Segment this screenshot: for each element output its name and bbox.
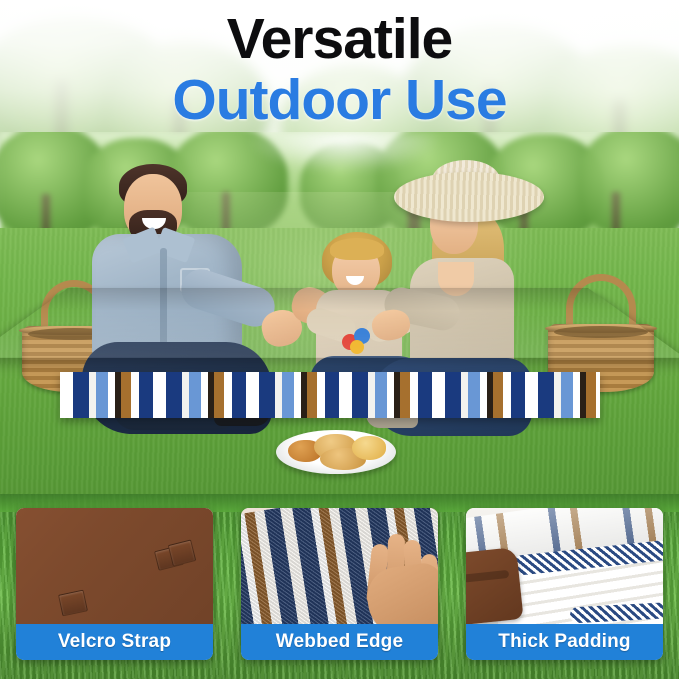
feature-card-thick-padding[interactable]: Thick Padding [466, 508, 663, 660]
feature-caption-velcro-strap: Velcro Strap [16, 624, 213, 660]
leather-carry-strap [466, 547, 524, 624]
striped-picnic-blanket-front [60, 372, 600, 418]
page-title: Versatile Outdoor Use [0, 8, 679, 130]
feature-photo-thick-padding [466, 508, 663, 624]
feature-strip: Velcro Strap Webbed Edge [0, 494, 679, 679]
feature-photo-webbed-edge [241, 508, 438, 624]
striped-picnic-blanket [0, 288, 679, 358]
background-tree [578, 132, 679, 236]
plate-of-food [276, 430, 396, 474]
hand-pressing-edge [352, 532, 438, 624]
food-item [352, 436, 386, 460]
feature-card-webbed-edge[interactable]: Webbed Edge [241, 508, 438, 660]
product-marketing-image: Versatile Outdoor Use [0, 0, 679, 679]
title-line-secondary: Outdoor Use [0, 70, 679, 130]
feature-photo-velcro-strap [16, 508, 213, 624]
child-fringe [330, 238, 384, 260]
brown-fabric-flap [16, 508, 213, 624]
feature-caption-webbed-edge: Webbed Edge [241, 624, 438, 660]
feature-card-velcro-strap[interactable]: Velcro Strap [16, 508, 213, 660]
feature-caption-thick-padding: Thick Padding [466, 624, 663, 660]
sun-hat-brim [394, 172, 544, 222]
title-line-primary: Versatile [0, 8, 679, 70]
